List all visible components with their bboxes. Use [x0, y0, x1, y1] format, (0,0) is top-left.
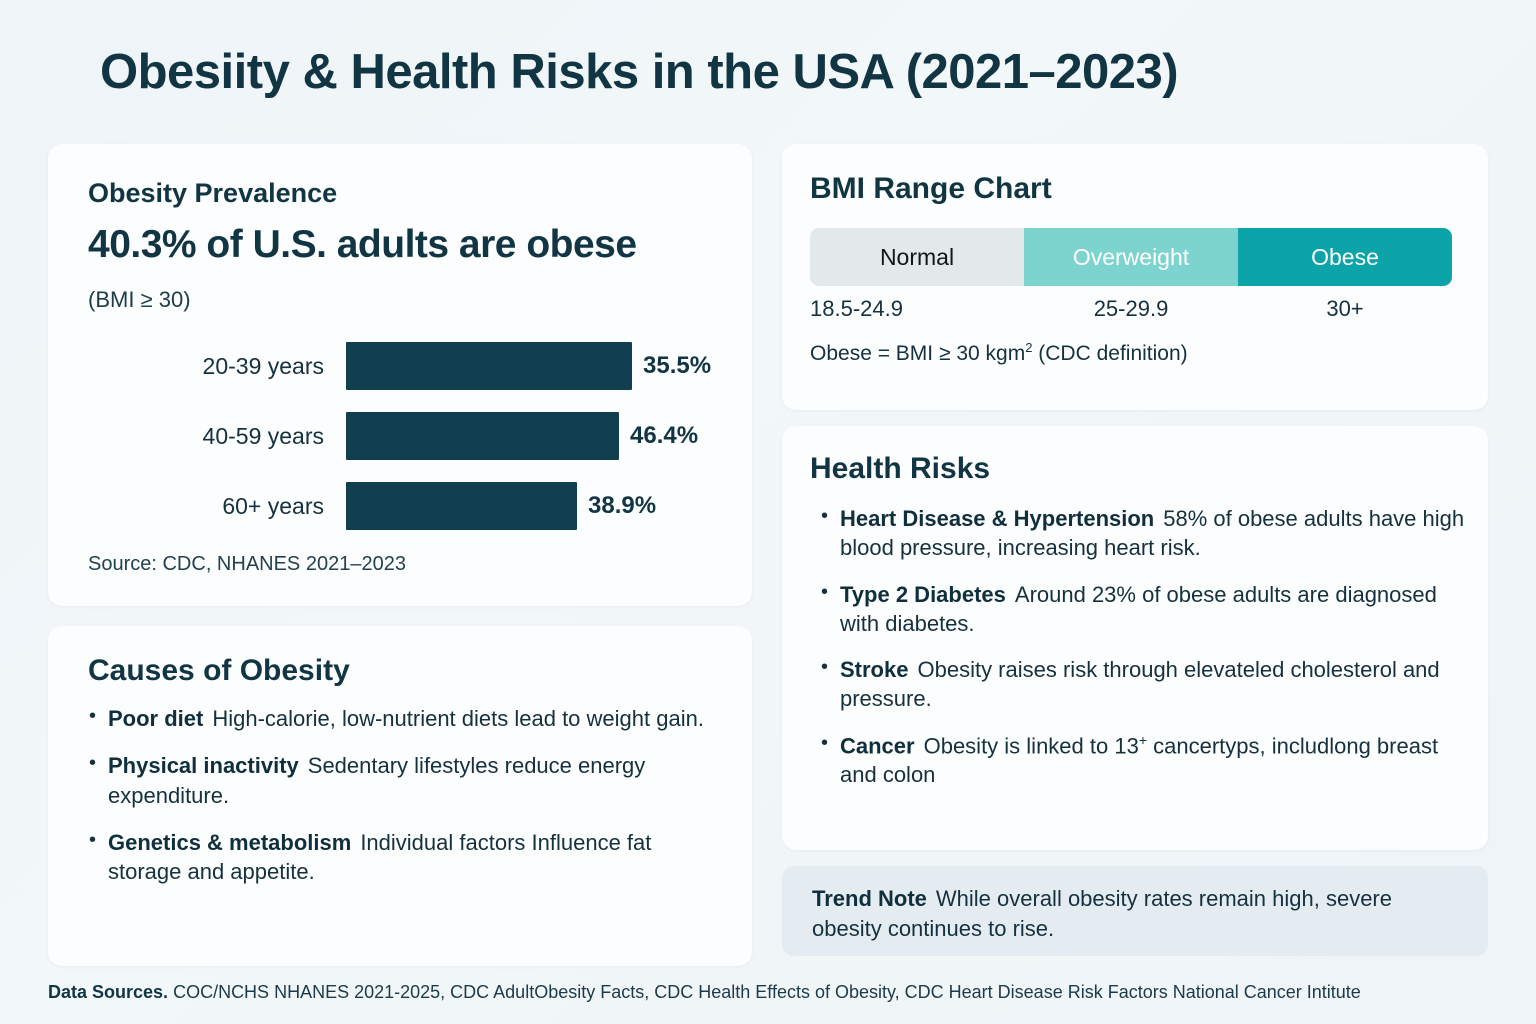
bar-row: 20-39 years35.5%	[88, 342, 728, 390]
bmi-caption-pre: Obese = BMI ≥ 30 kgm	[810, 342, 1025, 365]
bar-row: 60+ years38.9%	[88, 482, 728, 530]
prevalence-headline: 40.3% of U.S. adults are obese	[88, 223, 637, 267]
risk-item: Heart Disease & Hypertension58% of obese…	[820, 504, 1470, 563]
footer-sources: Data Sources. COC/NCHS NHANES 2021-2025,…	[48, 982, 1361, 1003]
cause-term: Genetics & metabolism	[108, 830, 351, 855]
trend-note-card: Trend NoteWhile overall obesity rates re…	[782, 866, 1488, 956]
cause-item: Physical inactivitySedentary lifestyles …	[88, 751, 728, 810]
causes-of-obesity-card: Causes of Obesity Poor dietHigh-calorie,…	[48, 626, 752, 966]
cause-term: Physical inactivity	[108, 753, 299, 778]
bmi-range-normal: 18.5-24.9	[810, 296, 1024, 322]
bar-track: 35.5%	[346, 342, 711, 390]
risk-description-superscript: +	[1139, 732, 1147, 748]
causes-heading: Causes of Obesity	[88, 654, 350, 688]
trend-note-text: Trend NoteWhile overall obesity rates re…	[812, 884, 1462, 945]
prevalence-heading: Obesity Prevalence	[88, 178, 337, 209]
health-risks-list: Heart Disease & Hypertension58% of obese…	[820, 504, 1470, 806]
bmi-segment-normal[interactable]: Normal	[810, 228, 1024, 286]
risks-heading: Health Risks	[810, 452, 990, 486]
bmi-segment-obese[interactable]: Obese	[1238, 228, 1452, 286]
bar-track: 38.9%	[346, 482, 656, 530]
obesity-prevalence-card: Obesity Prevalence 40.3% of U.S. adults …	[48, 144, 752, 606]
bmi-range-chart-card: BMI Range Chart NormalOverweightObese 18…	[782, 144, 1488, 410]
bmi-caption-post: (CDC definition)	[1032, 342, 1187, 365]
risk-description: Obesity is linked to 13	[924, 733, 1139, 758]
bmi-range-bar: NormalOverweightObese	[810, 228, 1452, 286]
prevalence-source: Source: CDC, NHANES 2021–2023	[88, 553, 406, 576]
risk-item: Type 2 DiabetesAround 23% of obese adult…	[820, 580, 1470, 639]
trend-note-label: Trend Note	[812, 886, 927, 911]
risk-item: CancerObesity is linked to 13+ cancertyp…	[820, 731, 1470, 790]
age-group-bar-chart: 20-39 years35.5%40-59 years46.4%60+ year…	[88, 342, 728, 552]
bar-value-label: 46.4%	[630, 422, 698, 450]
bar-fill	[346, 412, 619, 460]
bmi-range-values: 18.5-24.925-29.930+	[810, 296, 1452, 322]
bar-track: 46.4%	[346, 412, 698, 460]
cause-item: Genetics & metabolismIndividual factors …	[88, 828, 728, 887]
bar-row: 40-59 years46.4%	[88, 412, 728, 460]
footer-label: Data Sources.	[48, 982, 168, 1002]
bar-category-label: 40-59 years	[88, 423, 346, 450]
bar-category-label: 60+ years	[88, 493, 346, 520]
health-risks-card: Health Risks Heart Disease & Hypertensio…	[782, 426, 1488, 850]
risk-term: Type 2 Diabetes	[840, 582, 1006, 607]
risk-term: Stroke	[840, 657, 908, 682]
bar-fill	[346, 482, 577, 530]
footer-text: COC/NCHS NHANES 2021-2025, CDC AdultObes…	[168, 982, 1361, 1002]
risk-term: Cancer	[840, 733, 915, 758]
bmi-segment-overweight[interactable]: Overweight	[1024, 228, 1238, 286]
causes-list: Poor dietHigh-calorie, low-nutrient diet…	[88, 704, 728, 904]
bmi-range-overweight: 25-29.9	[1024, 296, 1238, 322]
bar-value-label: 38.9%	[588, 492, 656, 520]
bar-category-label: 20-39 years	[88, 353, 346, 380]
bar-fill	[346, 342, 632, 390]
cause-item: Poor dietHigh-calorie, low-nutrient diet…	[88, 704, 728, 733]
risk-description: Obesity raises risk through elevateled c…	[840, 657, 1440, 711]
prevalence-subnote: (BMI ≥ 30)	[88, 287, 191, 313]
cause-description: High-calorie, low-nutrient diets lead to…	[212, 706, 704, 731]
risk-term: Heart Disease & Hypertension	[840, 506, 1154, 531]
page-title: Obesiity & Health Risks in the USA (2021…	[100, 44, 1178, 100]
infographic-page: Obesiity & Health Risks in the USA (2021…	[0, 0, 1536, 1024]
bmi-caption: Obese = BMI ≥ 30 kgm2 (CDC definition)	[810, 340, 1188, 366]
bmi-heading: BMI Range Chart	[810, 172, 1052, 206]
risk-item: StrokeObesity raises risk through elevat…	[820, 655, 1470, 714]
bar-value-label: 35.5%	[643, 352, 711, 380]
cause-term: Poor diet	[108, 706, 203, 731]
bmi-range-obese: 30+	[1238, 296, 1452, 322]
